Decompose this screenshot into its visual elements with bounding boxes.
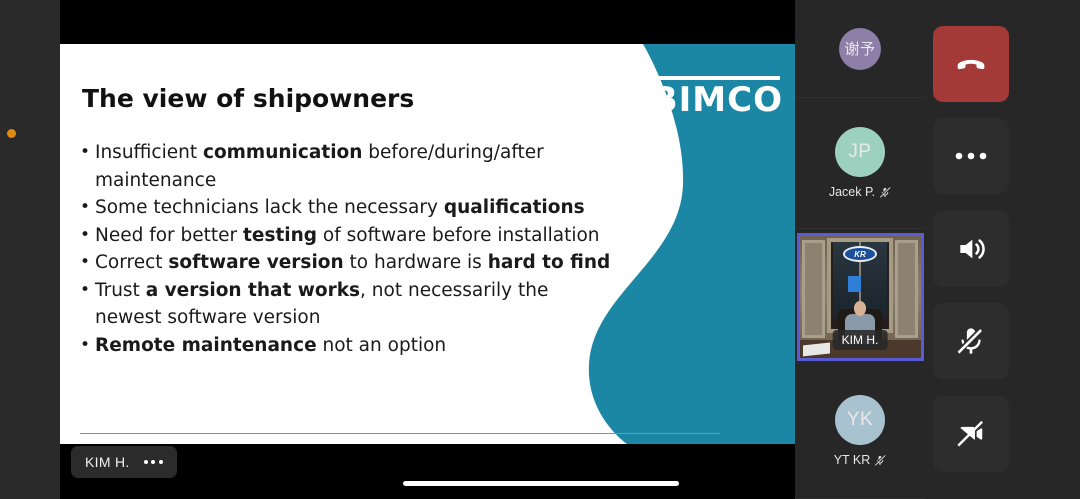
- microphone-button[interactable]: [933, 303, 1009, 379]
- mic-off-icon: [874, 454, 886, 467]
- participant-name-label: Jacek P.: [829, 185, 891, 199]
- mic-off-icon: [955, 324, 987, 358]
- bullet-text: Insufficient: [95, 142, 203, 163]
- participant-cell[interactable]: 谢予: [795, 0, 925, 98]
- slide-bullet: Insufficient communication before/during…: [78, 139, 618, 194]
- video-tile-name-label: KIM H.: [833, 330, 888, 350]
- bimco-logo: BIMCO: [652, 76, 783, 117]
- bullet-emphasis: qualifications: [444, 197, 585, 218]
- slide-bullet: Remote maintenance not an option: [78, 332, 618, 360]
- shared-screen-stage[interactable]: BIMCO The view of shipowners Insufficien…: [60, 0, 795, 499]
- slide-bullet: Trust a version that works, not necessar…: [78, 277, 618, 332]
- more-horizontal-icon: [954, 151, 988, 161]
- presentation-slide: BIMCO The view of shipowners Insufficien…: [60, 44, 795, 444]
- bullet-text: Correct: [95, 252, 168, 273]
- slide-bullet: Some technicians lack the necessary qual…: [78, 194, 618, 222]
- bullet-text: Need for better: [95, 225, 243, 246]
- slide-divider-rule: [80, 433, 720, 434]
- more-options-button[interactable]: [933, 118, 1009, 194]
- more-horizontal-icon[interactable]: [144, 460, 163, 464]
- video-off-icon: [952, 419, 990, 449]
- participant-name-label: YT KR: [834, 453, 887, 467]
- hangup-icon: [951, 44, 991, 84]
- bullet-text: of software before installation: [317, 225, 600, 246]
- active-speaker-border: KRKIM H.: [797, 233, 924, 361]
- avatar: YK: [835, 395, 885, 445]
- participant-video-tile[interactable]: KRKIM H.: [795, 229, 925, 364]
- bimco-logo-text: BIMCO: [652, 83, 783, 117]
- bullet-text: Trust: [95, 280, 146, 301]
- bullet-emphasis: software version: [168, 252, 343, 273]
- slide-bullet: Need for better testing of software befo…: [78, 222, 618, 250]
- left-rail: [0, 0, 60, 499]
- slide-bullet-list: Insufficient communication before/during…: [78, 139, 618, 359]
- participant-cell[interactable]: JPJacek P.: [795, 98, 925, 229]
- speaker-button[interactable]: [933, 211, 1009, 287]
- home-indicator-bar: [403, 481, 679, 486]
- camera-button[interactable]: [933, 396, 1009, 472]
- bullet-emphasis: Remote maintenance: [95, 335, 317, 356]
- participant-cell[interactable]: YKYT KR: [795, 364, 925, 499]
- mic-off-icon: [879, 186, 891, 199]
- slide-title: The view of shipowners: [82, 84, 414, 113]
- participant-name-text: YT KR: [834, 453, 871, 467]
- recording-indicator-dot: [7, 129, 16, 138]
- video-call-screen: BIMCO The view of shipowners Insufficien…: [0, 0, 1080, 499]
- avatar: JP: [835, 127, 885, 177]
- slide-bullet: Correct software version to hardware is …: [78, 249, 618, 277]
- presenter-name-pill[interactable]: KIM H.: [71, 446, 177, 478]
- bullet-text: not an option: [317, 335, 447, 356]
- participants-sidebar[interactable]: 谢予JPJacek P.KRKIM H.YKYT KR: [795, 0, 925, 499]
- participant-name-text: Jacek P.: [829, 185, 875, 199]
- bullet-emphasis: communication: [203, 142, 362, 163]
- presenter-name-label: KIM H.: [85, 454, 130, 470]
- bullet-text: to hardware is: [344, 252, 488, 273]
- bullet-text: Some technicians lack the necessary: [95, 197, 444, 218]
- bullet-emphasis: testing: [243, 225, 317, 246]
- bullet-emphasis: a version that works: [146, 280, 360, 301]
- end-call-button[interactable]: [933, 26, 1009, 102]
- bullet-emphasis: hard to find: [488, 252, 611, 273]
- avatar: 谢予: [839, 28, 881, 70]
- call-controls-column: [925, 0, 1080, 499]
- speaker-on-icon: [953, 233, 989, 265]
